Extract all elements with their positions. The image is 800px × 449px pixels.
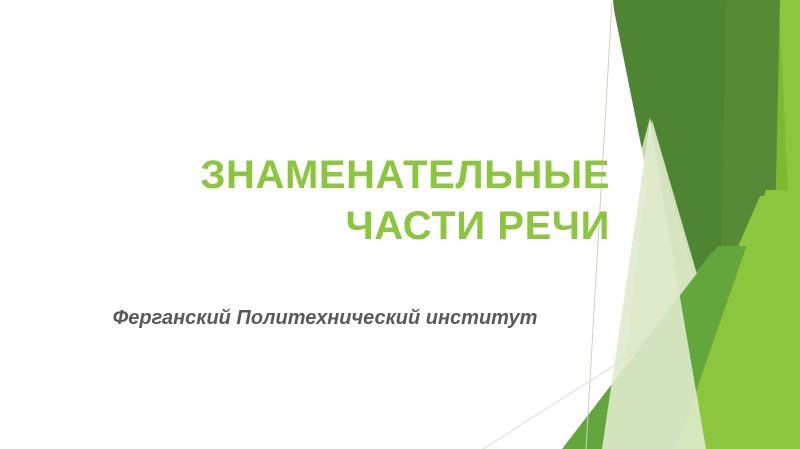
title-slide: ЗНАМЕНАТЕЛЬНЫЕ ЧАСТИ РЕЧИ Ферганский Пол… [0, 0, 800, 449]
subtitle-container: Ферганский Политехнический институт [60, 305, 590, 331]
bright-green-bottom-right [676, 190, 800, 449]
slide-subtitle: Ферганский Политехнический институт [60, 305, 590, 331]
mid-green-bottom-wedge [562, 246, 800, 449]
title-container: ЗНАМЕНАТЕЛЬНЫЕ ЧАСТИ РЕЧИ [60, 150, 610, 252]
pale-green-lower-band [602, 122, 706, 449]
pale-green-midslope [616, 120, 748, 449]
mid-green-diagonal-band [556, 252, 800, 449]
very-pale-green-sliver [608, 118, 700, 449]
right-mid-green-panel [596, 0, 800, 449]
page-title: ЗНАМЕНАТЕЛЬНЫЕ ЧАСТИ РЕЧИ [60, 150, 610, 252]
hairline-diagonal-lower [483, 330, 670, 449]
bright-green-lower-right-facet [650, 196, 800, 449]
right-yellow-green-panel [620, 0, 800, 449]
left-green-wedge [0, 0, 57, 372]
